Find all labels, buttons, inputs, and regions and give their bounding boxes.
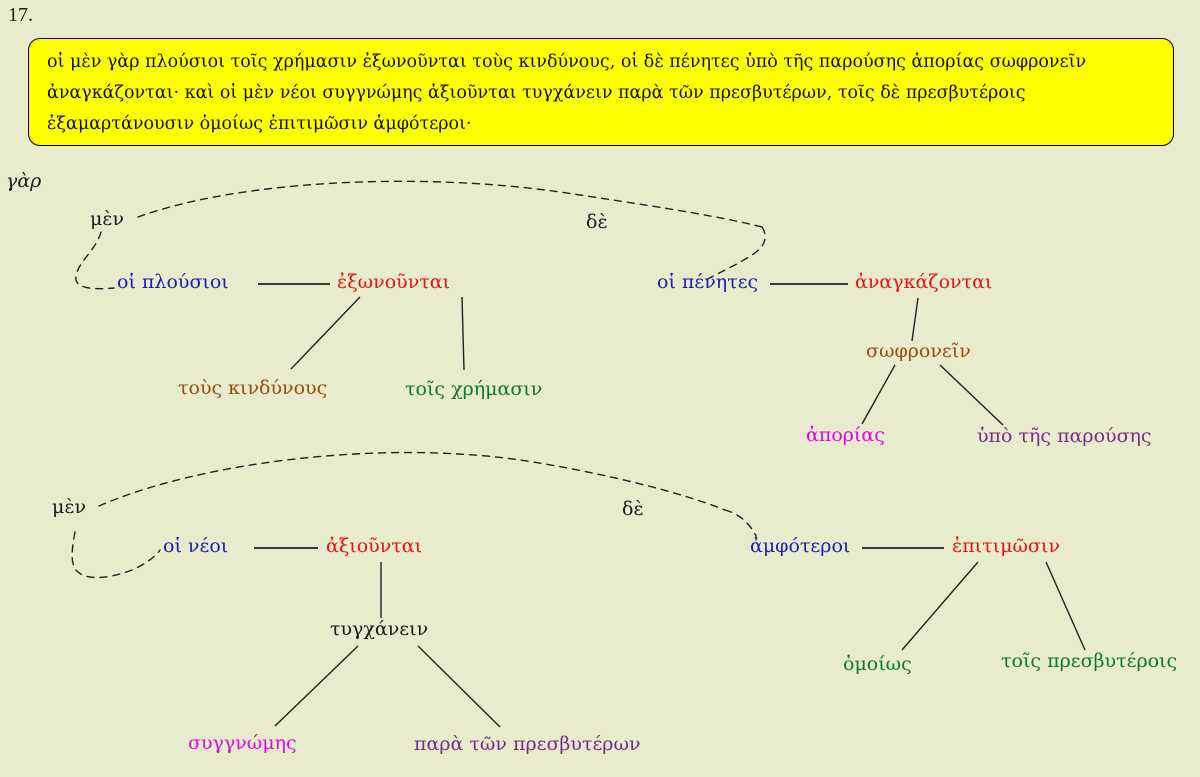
quote-line-3: ἐξαμαρτάνουσιν ὁμοίως ἐπιτιμῶσιν ἀμφότερ… — [47, 109, 1159, 140]
node-bottom-right-dative: τοῖς πρεσβυτέροις — [1001, 652, 1177, 671]
link-epitimosin-presbyterois — [1046, 562, 1085, 650]
dashed-arc-top-men-de — [138, 181, 762, 227]
node-top-left-verb: ἐξωνοῦνται — [337, 273, 450, 292]
link-sofronein-parousis — [940, 365, 1003, 425]
node-gar-connective: γὰρ — [6, 172, 41, 191]
node-top-right-cause-noun: ἀπορίας — [806, 426, 885, 445]
node-bottom-left-agent-phrase: παρὰ τῶν πρεσβυτέρων — [414, 735, 641, 754]
link-exonountai-chrimasin — [462, 297, 464, 370]
link-tygchanein-presbyteron — [418, 646, 500, 727]
dashed-hook-bottom-right — [725, 510, 756, 536]
node-bottom-right-adverb: ὁμοίως — [843, 655, 912, 674]
node-top-right-particle-de: δὲ — [586, 213, 608, 232]
node-bottom-right-subject: ἀμφότεροι — [750, 537, 850, 556]
dashed-hook-bottom-left — [72, 532, 160, 578]
node-top-left-subject: οἱ πλούσιοι — [117, 273, 229, 292]
node-bottom-left-infinitive: τυγχάνειν — [330, 620, 428, 639]
node-bottom-left-subject: οἱ νέοι — [163, 537, 228, 556]
node-bottom-left-verb: ἀξιοῦνται — [326, 537, 422, 556]
node-bottom-right-verb: ἐπιτιμῶσιν — [952, 537, 1060, 556]
diagram-root: 17. οἱ μὲν γὰρ πλούσιοι τοῖς χρήμασιν ἐξ… — [0, 0, 1200, 777]
node-bottom-right-particle-de: δὲ — [622, 500, 644, 519]
node-top-right-cause-phrase: ὑπὸ τῆς παρούσης — [977, 427, 1152, 446]
quote-line-2: ἀναγκάζονται· καὶ οἱ μὲν νέοι συγγνώμης … — [47, 78, 1159, 109]
link-sofronein-aporias — [862, 365, 895, 424]
link-tygchanein-syggnomis — [275, 646, 358, 726]
node-top-left-instrument: τοῖς χρήμασιν — [405, 380, 542, 399]
quote-line-1: οἱ μὲν γὰρ πλούσιοι τοῖς χρήμασιν ἐξωνοῦ… — [47, 47, 1159, 78]
node-top-left-object: τοὺς κινδύνους — [178, 379, 327, 398]
node-top-right-subject: οἱ πένητες — [657, 273, 758, 292]
node-bottom-left-particle-men: μὲν — [52, 498, 86, 517]
dashed-hook-top-left — [76, 232, 114, 289]
node-top-right-infinitive: σωφρονεῖν — [866, 342, 971, 361]
node-top-right-verb: ἀναγκάζονται — [855, 273, 992, 292]
exercise-number: 17. — [8, 4, 33, 27]
node-top-left-particle-men: μὲν — [90, 210, 124, 229]
link-exonountai-kindynous — [291, 297, 360, 369]
link-epitimosin-omoios — [902, 562, 978, 650]
link-anagkazontai-sofronein — [912, 298, 918, 341]
greek-quotation-box: οἱ μὲν γὰρ πλούσιοι τοῖς χρήμασιν ἐξωνοῦ… — [28, 38, 1174, 146]
node-bottom-left-genitive: συγγνώμης — [188, 734, 297, 753]
